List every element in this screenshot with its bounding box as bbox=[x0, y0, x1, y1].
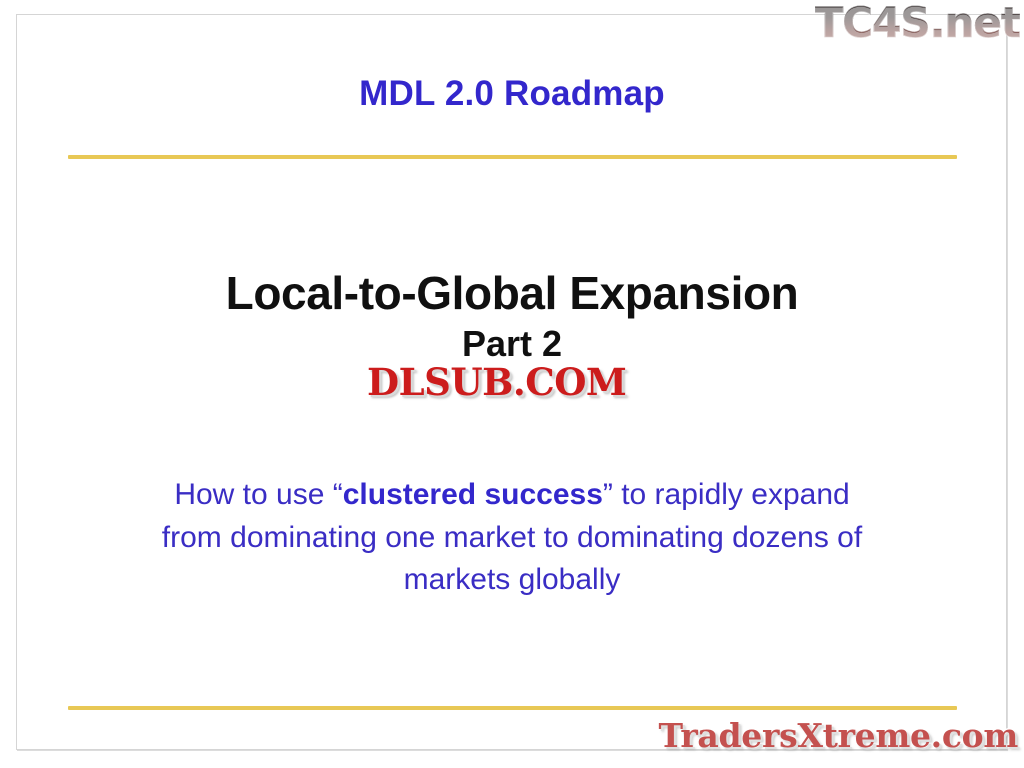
headline-primary: Local-to-Global Expansion bbox=[0, 268, 1024, 320]
body-emphasis: clustered success bbox=[343, 478, 603, 511]
slide-frame bbox=[16, 14, 1007, 750]
page-title: MDL 2.0 Roadmap bbox=[0, 74, 1024, 114]
body-paragraph: How to use “clustered success” to rapidl… bbox=[142, 474, 882, 602]
divider-top bbox=[68, 155, 957, 159]
headline-block: Local-to-Global Expansion Part 2 bbox=[0, 268, 1024, 363]
headline-secondary: Part 2 bbox=[0, 324, 1024, 364]
slide-canvas: MDL 2.0 Roadmap Local-to-Global Expansio… bbox=[0, 0, 1024, 768]
body-lead: How to use “ bbox=[174, 478, 342, 511]
divider-bottom bbox=[68, 706, 957, 710]
